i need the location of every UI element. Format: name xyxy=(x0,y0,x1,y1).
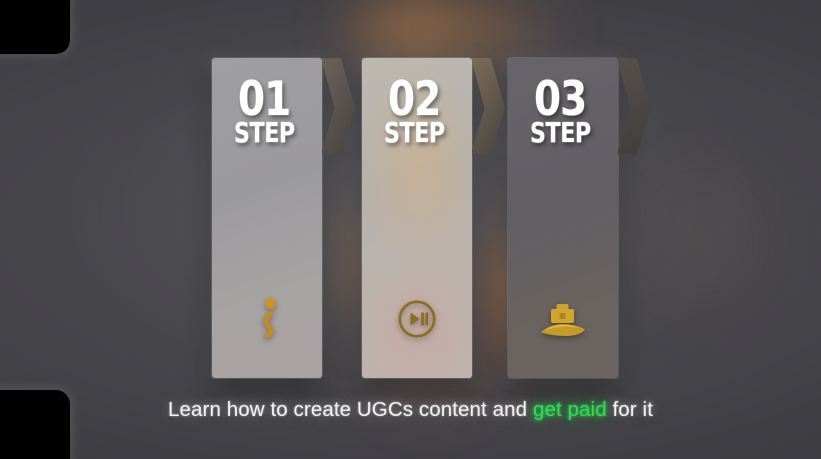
step-card-heading: 03 STEP xyxy=(534,76,599,147)
step-card-heading: 02 STEP xyxy=(388,76,453,147)
caption-before: Learn how to create UGCs content and xyxy=(168,398,533,421)
chevron-right-icon xyxy=(617,58,651,154)
chevron-right-icon xyxy=(471,58,505,154)
step-card-02[interactable]: 02 STEP xyxy=(362,58,472,378)
steps-row: 01 STEP 02 STEP xyxy=(0,0,821,459)
caption-highlight: get paid xyxy=(533,398,607,421)
step-card-heading: 01 STEP xyxy=(238,76,303,147)
chevron-right-icon xyxy=(321,58,355,154)
play-pause-icon xyxy=(362,296,472,342)
caption-after: for it xyxy=(607,398,653,421)
step-card-03[interactable]: 03 STEP xyxy=(508,58,618,378)
step-label: STEP xyxy=(234,119,295,147)
video-frame: 01 STEP 02 STEP xyxy=(0,0,821,459)
mask-corner-bottom-left xyxy=(0,390,70,459)
step-label: STEP xyxy=(384,119,445,147)
mask-corner-top-left xyxy=(0,0,70,54)
step-card-01[interactable]: 01 STEP xyxy=(212,58,322,378)
step-label: STEP xyxy=(530,119,591,147)
money-hand-icon xyxy=(508,296,618,342)
caption: Learn how to create UGCs content and get… xyxy=(0,398,821,422)
info-icon xyxy=(212,296,322,342)
